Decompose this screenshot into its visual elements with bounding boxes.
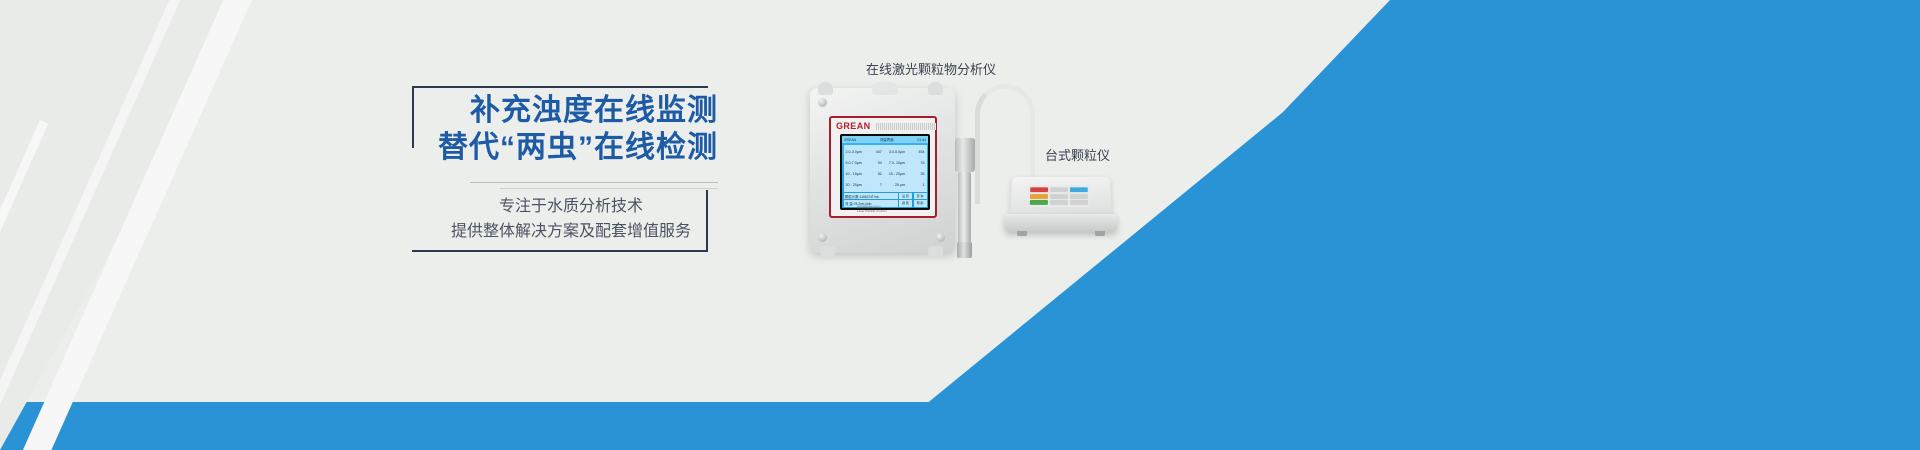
- desktop-keypad[interactable]: [1028, 185, 1091, 206]
- lcd-content: GREAN 测量界面 01:44 2.0-3.0μm 447 3.0-5.0μm…: [842, 136, 928, 208]
- keypad-key[interactable]: [1070, 200, 1089, 205]
- keypad-column: [1050, 187, 1068, 205]
- keypad-key[interactable]: [1050, 187, 1068, 192]
- lcd-button-query[interactable]: 查 询: [914, 193, 927, 199]
- cell-count-2: 35: [907, 172, 924, 176]
- device-bezel: GREAN GREAN 测量界面 01:44 2.0-3.0μm 447 3.0…: [829, 116, 937, 218]
- table-row: 5.0-7.0μm 94 7.0- 10μm 76: [846, 161, 925, 165]
- label-online-analyzer: 在线激光颗粒物分析仪: [866, 59, 996, 78]
- headline-line-1: 补充浊度在线监测: [420, 92, 720, 129]
- keypad-key[interactable]: [1030, 200, 1049, 205]
- cell-count-2: 1: [907, 183, 924, 187]
- nameplate-en: Laser Particle Counter: [857, 209, 917, 213]
- lcd-titlebar: GREAN 测量界面 01:44: [842, 136, 928, 143]
- lcd-screen[interactable]: GREAN 测量界面 01:44 2.0-3.0μm 447 3.0-5.0μm…: [840, 134, 930, 210]
- background-blue-bottom-strip: [0, 402, 1920, 450]
- screw-icon: [818, 233, 827, 242]
- enclosure-lug: [928, 82, 943, 95]
- sensor-barrel-body: [958, 172, 971, 244]
- hero-banner: 补充浊度在线监测 替代“两虫”在线检测 专注于水质分析技术 提供整体解决方案及配…: [0, 0, 1920, 450]
- headline-line-2: 替代“两虫”在线检测: [420, 129, 720, 166]
- lcd-header-right: 01:44: [918, 138, 927, 142]
- cell-count-1: 52: [869, 172, 882, 176]
- lcd-button-settings[interactable]: 设 置: [899, 193, 912, 199]
- cell-range-2: 15 - 20μm: [882, 172, 907, 176]
- table-row: 10 - 15μm 52 15 - 20μm 35: [846, 172, 925, 176]
- table-row: 20 - 25μm 7 - 25 μm 1: [846, 183, 925, 187]
- device-brand-row: GREAN: [836, 121, 936, 131]
- keypad-key[interactable]: [1070, 194, 1088, 199]
- sensor-barrel-top: [955, 138, 975, 172]
- cell-count-1: 7: [869, 183, 882, 187]
- readout-particle-count: 颗粒计数:1166CNT/mL: [844, 193, 898, 199]
- page-title: 补充浊度在线监测 替代“两虫”在线检测: [420, 92, 720, 166]
- screw-icon: [936, 233, 945, 242]
- cell-range-1: 20 - 25μm: [846, 183, 870, 187]
- lcd-header-center: 测量界面: [880, 137, 894, 142]
- lcd-header-left: GREAN: [844, 138, 856, 142]
- cell-range-2: 7.0- 10μm: [882, 161, 907, 165]
- title-divider-secondary: [500, 188, 718, 189]
- keypad-column: [1070, 187, 1089, 205]
- online-analyzer-device: GREAN GREAN 测量界面 01:44 2.0-3.0μm 447 3.0…: [810, 88, 955, 253]
- vent-grille-icon: [876, 123, 936, 130]
- keypad-key[interactable]: [1050, 200, 1068, 205]
- cell-range-1: 2.0-3.0μm: [846, 150, 870, 154]
- device-nameplate: 激光颗粒物分析仪 Laser Particle Counter: [857, 205, 917, 213]
- subtitle-line-2: 提供整体解决方案及配套增值服务: [422, 219, 720, 244]
- lcd-footer-row: 颗粒计数:1166CNT/mL 设 置 查 询: [844, 193, 927, 199]
- cell-count-1: 447: [869, 150, 882, 154]
- keypad-key[interactable]: [1030, 194, 1048, 199]
- desktop-foot: [1017, 231, 1027, 236]
- enclosure-lug: [818, 82, 833, 95]
- sensor-barrel-bottom: [957, 242, 972, 258]
- hero-text-block: 补充浊度在线监测 替代“两虫”在线检测 专注于水质分析技术 提供整体解决方案及配…: [412, 86, 708, 252]
- cell-range-2: - 25 μm: [882, 183, 907, 187]
- cell-range-1: 5.0-7.0μm: [846, 161, 870, 165]
- table-row: 2.0-3.0μm 447 3.0-5.0μm 454: [846, 150, 925, 154]
- cell-count-1: 94: [869, 161, 882, 165]
- cell-range-2: 3.0-5.0μm: [882, 150, 907, 154]
- keypad-key[interactable]: [1030, 187, 1048, 192]
- subtitle-group: 专注于水质分析技术 提供整体解决方案及配套增值服务: [422, 194, 720, 244]
- enclosure-lug: [928, 246, 943, 259]
- keypad-column: [1030, 187, 1049, 205]
- lcd-particle-table: 2.0-3.0μm 447 3.0-5.0μm 454 5.0-7.0μm 94…: [844, 145, 927, 192]
- keypad-key[interactable]: [1070, 187, 1088, 192]
- enclosure-lug: [872, 82, 898, 95]
- desktop-particle-counter: [1005, 176, 1117, 238]
- subtitle-line-1: 专注于水质分析技术: [422, 194, 720, 219]
- cell-count-2: 76: [907, 161, 924, 165]
- enclosure-lug: [820, 246, 835, 259]
- brand-logo: GREAN: [836, 121, 871, 131]
- desktop-foot: [1095, 231, 1105, 236]
- desktop-base: [1005, 214, 1117, 232]
- cell-range-1: 10 - 15μm: [846, 172, 870, 176]
- label-desktop-counter: 台式颗粒仪: [1045, 145, 1110, 164]
- cell-count-2: 454: [907, 150, 924, 154]
- title-divider: [470, 182, 718, 183]
- desktop-top-panel: [1010, 177, 1112, 218]
- keypad-key[interactable]: [1050, 194, 1068, 199]
- screw-icon: [818, 98, 827, 107]
